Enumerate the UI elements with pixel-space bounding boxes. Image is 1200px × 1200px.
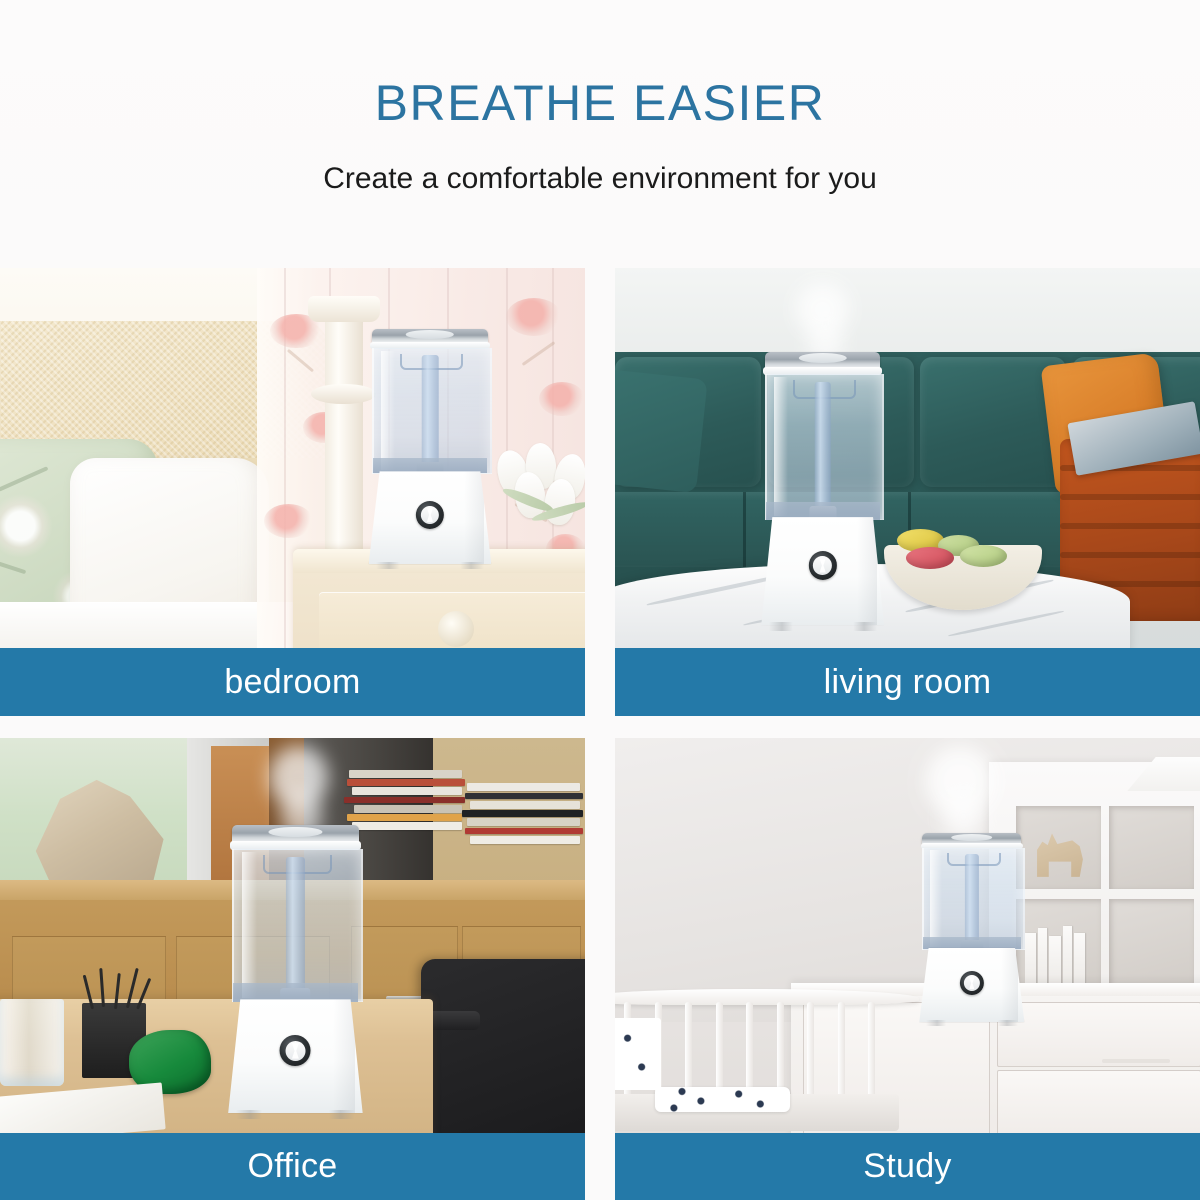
water-line xyxy=(923,937,1021,949)
book-stacks xyxy=(339,754,585,888)
caption-study: Study xyxy=(615,1133,1200,1200)
mist-nozzle xyxy=(269,827,322,838)
base-feet xyxy=(769,622,877,630)
humidifier-living-room xyxy=(761,352,884,626)
caption-office: Office xyxy=(0,1133,585,1200)
base-feet xyxy=(236,1110,354,1119)
inner-tube xyxy=(814,382,831,513)
control-knob[interactable] xyxy=(280,1035,311,1066)
scene-photo-living-room xyxy=(615,268,1200,648)
inner-tube xyxy=(965,854,979,945)
inner-tube xyxy=(286,857,304,995)
water-line xyxy=(233,983,358,1001)
caption-living-room: living room xyxy=(615,648,1200,716)
header: BREATHE EASIER Create a comfortable envi… xyxy=(0,0,1200,268)
tulip-bouquet xyxy=(491,443,585,557)
panel-office[interactable]: Office xyxy=(0,738,585,1200)
office-chair xyxy=(421,959,585,1133)
mist-nozzle xyxy=(406,330,454,339)
page-title: BREATHE EASIER xyxy=(0,78,1200,128)
caption-bedroom: bedroom xyxy=(0,648,585,716)
mist-nozzle xyxy=(951,834,993,841)
panel-living-room[interactable]: living room xyxy=(615,268,1200,716)
page-subtitle: Create a comfortable environment for you xyxy=(0,164,1200,194)
scene-photo-study xyxy=(615,738,1200,1133)
water-glass xyxy=(0,999,64,1086)
base-feet xyxy=(376,562,484,569)
crib xyxy=(615,983,919,1133)
inner-tube xyxy=(422,355,439,468)
crib-pillow xyxy=(655,1087,791,1112)
star-blanket xyxy=(615,1018,661,1091)
scene-photo-bedroom xyxy=(0,268,585,648)
scene-grid: bedroom xyxy=(0,268,1200,1200)
panel-bedroom[interactable]: bedroom xyxy=(0,268,585,716)
drawer-handle[interactable] xyxy=(1102,1059,1169,1063)
water-line xyxy=(766,502,880,520)
table-lamp xyxy=(325,306,363,564)
scene-photo-office xyxy=(0,738,585,1133)
mist-nozzle xyxy=(798,353,846,363)
humidifier-office xyxy=(228,825,363,1113)
humidifier-bedroom xyxy=(369,329,492,565)
base-feet xyxy=(926,1020,1019,1026)
panel-study[interactable]: Study xyxy=(615,738,1200,1200)
product-feature-image: BREATHE EASIER Create a comfortable envi… xyxy=(0,0,1200,1200)
water-line xyxy=(373,458,487,473)
humidifier-study xyxy=(919,833,1024,1023)
teal-pillow xyxy=(615,369,708,493)
